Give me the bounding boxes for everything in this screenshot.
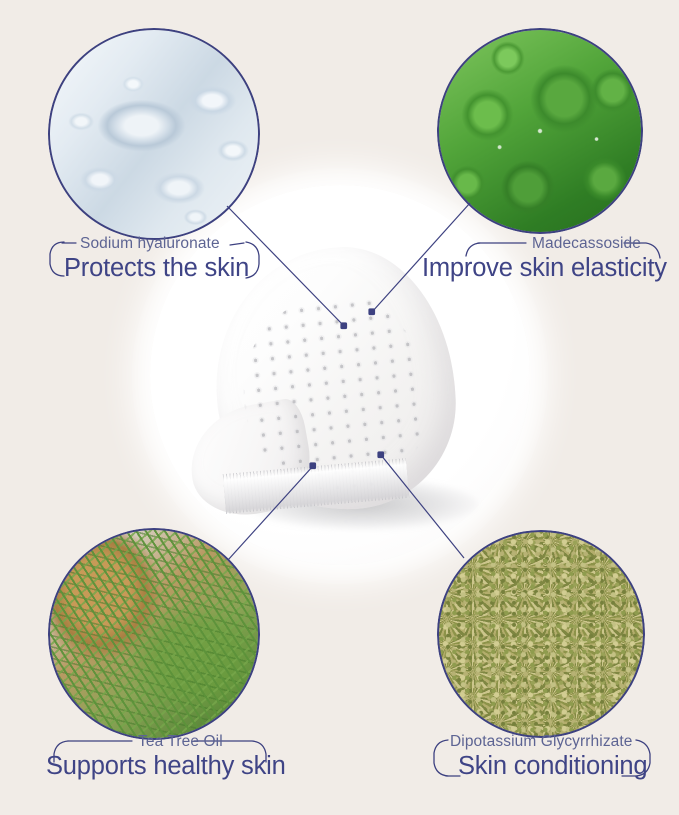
label-sodium-hyaluronate: Sodium hyaluronate Protects the skin [38, 232, 270, 294]
ingredient-name: Madecassoside [532, 235, 641, 253]
photo-tea-tree-sprigs [50, 530, 258, 738]
ingredient-name: Tea Tree Oil [138, 733, 223, 751]
ingredient-benefit: Skin conditioning [458, 752, 647, 781]
photo-clear-gel-droplets [50, 30, 258, 238]
ingredient-benefit: Supports healthy skin [46, 752, 286, 781]
ingredient-circle-dipotassium-glycyrrhizate [437, 530, 645, 738]
ingredient-name: Dipotassium Glycyrrhizate [450, 733, 633, 751]
photo-dried-herb-granules [439, 532, 643, 736]
ingredient-benefit: Protects the skin [64, 254, 249, 283]
ingredient-circle-tea-tree-oil [48, 528, 260, 740]
infographic-stage: Sodium hyaluronate Protects the skin Mad… [0, 0, 679, 815]
ingredient-benefit: Improve skin elasticity [422, 254, 667, 283]
label-dipotassium-glycyrrhizate: Dipotassium Glycyrrhizate Skin condition… [420, 730, 664, 792]
label-tea-tree-oil: Tea Tree Oil Supports healthy skin [34, 730, 282, 792]
ingredient-circle-madecassoside [437, 28, 643, 234]
ingredient-name: Sodium hyaluronate [80, 235, 220, 253]
photo-centella-leaves [439, 30, 641, 232]
label-madecassoside: Madecassoside Improve skin elasticity [418, 232, 666, 294]
ingredient-circle-sodium-hyaluronate [48, 28, 260, 240]
